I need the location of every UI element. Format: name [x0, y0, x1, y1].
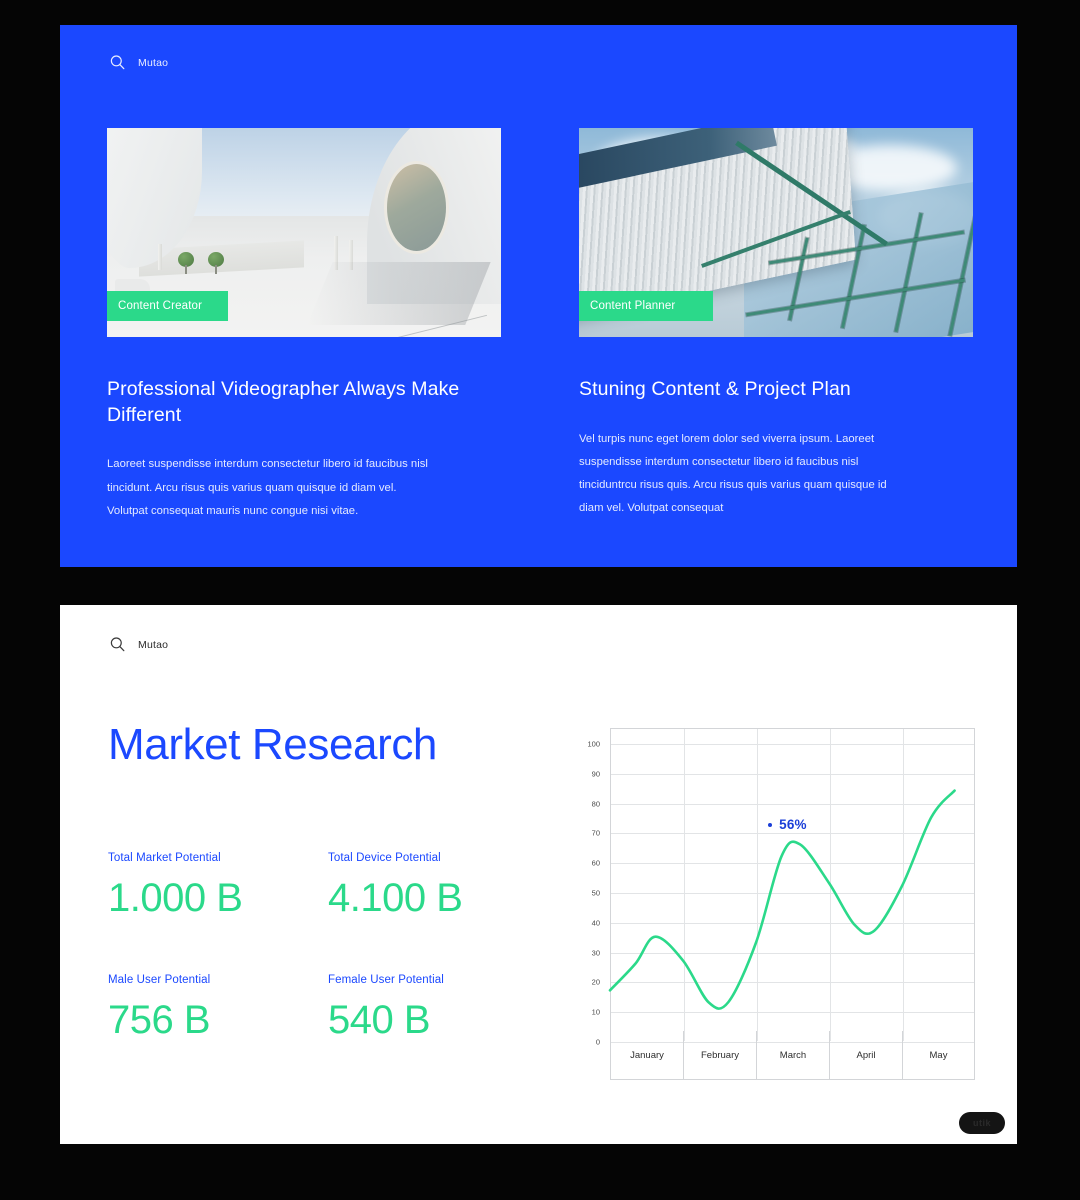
x-axis-tick: February — [683, 1031, 756, 1080]
stat-grid: Total Market Potential 1.000 B Total Dev… — [108, 852, 528, 1040]
y-axis-tick-label: 40 — [592, 918, 600, 927]
brand-logo-blue[interactable]: Mutao — [108, 53, 168, 72]
y-axis-tick-label: 100 — [587, 739, 600, 748]
card-tag-badge: Content Planner — [579, 291, 713, 321]
brand-logo-white[interactable]: Mutao — [108, 635, 168, 654]
presentation-page: Mutao — [0, 0, 1080, 1200]
market-growth-line-chart: 0102030405060708090100 JanuaryFebruaryMa… — [565, 718, 975, 1080]
y-axis-tick-label: 80 — [592, 799, 600, 808]
search-icon — [108, 53, 127, 72]
y-axis-tick-label: 90 — [592, 769, 600, 778]
card-tag-badge: Content Creator — [107, 291, 228, 321]
stat-label: Total Market Potential — [108, 852, 328, 864]
stat-item: Male User Potential 756 B — [108, 974, 328, 1040]
card-heading: Professional Videographer Always Make Di… — [107, 377, 501, 428]
x-axis-tick-label: May — [930, 1050, 948, 1061]
stat-item: Female User Potential 540 B — [328, 974, 548, 1040]
stat-label: Male User Potential — [108, 974, 328, 986]
brand-name: Mutao — [138, 639, 168, 651]
card-body-text: Laoreet suspendisse interdum consectetur… — [107, 453, 437, 522]
x-axis-tick-label: January — [630, 1050, 664, 1061]
y-axis-tick-label: 30 — [592, 948, 600, 957]
x-axis-tick: May — [902, 1031, 975, 1080]
stat-value: 1.000 B — [108, 878, 328, 918]
brand-name: Mutao — [138, 57, 168, 69]
stat-item: Total Market Potential 1.000 B — [108, 852, 328, 918]
stat-value: 756 B — [108, 1000, 328, 1040]
x-axis-tick-label: March — [780, 1050, 806, 1061]
y-axis-tick-label: 20 — [592, 978, 600, 987]
slide-market-research: Mutao Market Research Total Market Poten… — [60, 605, 1017, 1144]
y-axis-tick-label: 0 — [596, 1038, 600, 1047]
x-axis-tick: April — [829, 1031, 902, 1080]
stat-label: Total Device Potential — [328, 852, 548, 864]
card-photo: Content Planner — [579, 128, 973, 337]
stat-item: Total Device Potential 4.100 B — [328, 852, 548, 918]
card-heading: Stuning Content & Project Plan — [579, 377, 973, 403]
search-icon — [108, 635, 127, 654]
page-title: Market Research — [108, 720, 437, 770]
card-body-text: Vel turpis nunc eget lorem dolor sed viv… — [579, 428, 891, 521]
chart-line-svg — [610, 728, 975, 1041]
stat-value: 540 B — [328, 1000, 548, 1040]
chart-annotation: 56% — [768, 817, 807, 832]
stat-label: Female User Potential — [328, 974, 548, 986]
stat-value: 4.100 B — [328, 878, 548, 918]
x-axis-tick: March — [756, 1031, 829, 1080]
annotation-label: 56% — [779, 817, 807, 832]
y-axis-tick-label: 50 — [592, 888, 600, 897]
y-axis-tick-label: 10 — [592, 1008, 600, 1017]
x-axis-tick-label: February — [701, 1050, 739, 1061]
y-axis-tick-label: 70 — [592, 829, 600, 838]
feature-card[interactable]: Content Planner Stuning Content & Projec… — [579, 128, 973, 523]
slide-portfolio: Mutao — [60, 25, 1017, 567]
feature-card-list: Content Creator Professional Videographe… — [107, 128, 972, 523]
card-photo: Content Creator — [107, 128, 501, 337]
annotation-dot-icon — [768, 823, 772, 827]
feature-card[interactable]: Content Creator Professional Videographe… — [107, 128, 501, 523]
watermark-badge: utik — [959, 1112, 1005, 1134]
x-axis-tick: January — [610, 1031, 683, 1080]
y-axis-tick-label: 60 — [592, 859, 600, 868]
x-axis-tick-label: April — [856, 1050, 875, 1061]
